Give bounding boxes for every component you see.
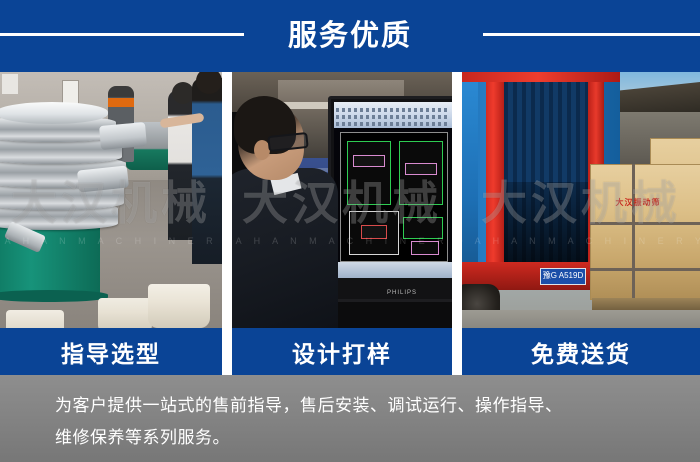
page-title: 服务优质	[0, 16, 700, 56]
sieve-base-foot	[0, 290, 108, 302]
panel-delivery[interactable]: 豫G A519D 大汉振动筛 大汉机械 D A H A N M A C H I …	[462, 72, 700, 375]
cad-toolbar	[334, 102, 452, 128]
cad-part-dimension	[361, 225, 387, 239]
cad-toolbar-row-1	[336, 108, 449, 112]
footer-description-panel: 为客户提供一站式的售前指导，售后安装、调试运行、操作指导、 维修保养等系列服务。	[0, 375, 700, 462]
cad-part-section	[403, 217, 443, 239]
footer-line-1: 为客户提供一站式的售前指导，售后安装、调试运行、操作指导、	[55, 390, 655, 422]
container-door-left	[486, 72, 504, 286]
photo-strip: 大汉机械 D A H A N M A C H I N E R Y 指导选型	[0, 72, 700, 375]
windows-taskbar	[334, 262, 452, 278]
monitor-screen	[334, 102, 452, 278]
service-promo-banner: 服务优质	[0, 0, 700, 462]
cad-part-detail-b	[405, 163, 437, 175]
plastic-bucket-3	[6, 310, 64, 328]
panel-divider-1	[222, 72, 232, 375]
cad-toolbar-row-3	[336, 122, 449, 126]
monitor-brand-label: PHILIPS	[382, 290, 422, 298]
caption-design: 设计打样	[232, 328, 452, 375]
caption-delivery: 免费送货	[462, 328, 700, 375]
photo-truck-loading: 豫G A519D 大汉振动筛 大汉机械 D A H A N M A C H I …	[462, 72, 700, 328]
wall-window-small	[2, 74, 18, 94]
cad-part-detail-a	[353, 155, 385, 167]
footer-line-2: 维修保养等系列服务。	[55, 422, 655, 454]
plastic-bucket-2	[148, 284, 210, 328]
sieve-lid	[0, 102, 108, 124]
sieve-outlet-spout-upper	[99, 122, 147, 150]
container-shadow	[504, 182, 590, 266]
panel-consultation[interactable]: 大汉机械 D A H A N M A C H I N E R Y 指导选型	[0, 72, 222, 375]
crate-strap-vertical	[632, 164, 635, 298]
header-bar: 服务优质	[0, 0, 700, 72]
crate-strap-1	[590, 222, 700, 225]
license-plate: 豫G A519D	[540, 268, 586, 285]
visitor-woman-head	[172, 82, 194, 104]
wooden-crate-front	[590, 164, 700, 300]
worker-vest	[108, 98, 134, 107]
visitor-man	[192, 78, 222, 264]
yard-ground	[462, 310, 700, 328]
crate-stamp-text: 大汉振动筛	[610, 198, 666, 214]
caption-consultation: 指导选型	[0, 328, 222, 375]
cad-part-frame-left	[347, 141, 391, 205]
photo-cad-engineer: PHILIPS 大汉机械 D A H A N M A C H I N E R Y	[232, 72, 452, 328]
crate-strap-2	[590, 268, 700, 271]
plastic-bucket-1	[98, 298, 152, 328]
cad-drawing-canvas	[340, 132, 448, 262]
container-top-rail	[462, 72, 620, 82]
panel-divider-2	[452, 72, 462, 375]
cad-part-table	[411, 241, 439, 255]
photo-factory-sieve: 大汉机械 D A H A N M A C H I N E R Y	[0, 72, 222, 328]
footer-description: 为客户提供一站式的售前指导，售后安装、调试运行、操作指导、 维修保养等系列服务。	[55, 390, 655, 454]
truck-left-frame	[462, 76, 478, 282]
cad-toolbar-row-2	[336, 115, 449, 119]
panel-design[interactable]: PHILIPS 大汉机械 D A H A N M A C H I N E R Y…	[232, 72, 452, 375]
